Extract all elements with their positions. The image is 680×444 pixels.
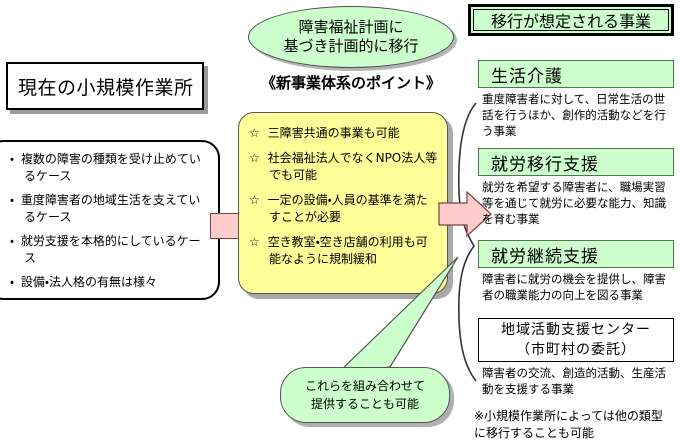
current-small-workshop-title-text: 現在の小規模作業所 — [18, 73, 194, 100]
current-workshop-case-list: ・ 複数の障害の種類を受け止めているケース ・ 重度障害者の地域生活を支えている… — [0, 140, 220, 300]
list-item: ・ 設備・法人格の有無は様々 — [10, 274, 210, 291]
service-label-community-activity-center: 地域活動支援センター （市町村の委託） — [478, 318, 674, 362]
service-label-subtext: （市町村の委託） — [516, 340, 636, 360]
service-description: 重度障害者に対して、日常生活の世話を行うほか、創作的活動などを行う事業 — [478, 88, 674, 139]
planned-transition-line-1: 障害福祉計画に — [298, 18, 403, 37]
service-label-text: 生活介護 — [491, 62, 563, 87]
bullet-dot-icon: ・ — [10, 152, 17, 166]
list-item-label: 三障害共通の事業も可能 — [268, 126, 400, 140]
planned-transition-ellipse: 障害福祉計画に 基づき計画的に移行 — [248, 6, 454, 68]
service-label-employment-transition: 就労移行支援 — [478, 148, 674, 176]
bullet-dot-icon: ・ — [10, 193, 17, 207]
service-description: 障害者の交流、創造的活動、生産活動を支援する事業 — [478, 362, 674, 397]
combine-services-callout: これらを組み合わせて 提供することも可能 — [280, 367, 450, 423]
expected-services-header: 移行が想定される事業 — [468, 4, 674, 36]
list-item: ・ 複数の障害の種類を受け止めているケース — [10, 151, 210, 185]
service-label-text: 就労継続支援 — [491, 242, 599, 267]
footnote-text: ※小規模作業所によっては他の類型に移行することも可能 — [474, 408, 674, 442]
service-label-life-care: 生活介護 — [478, 60, 674, 88]
service-block-employment-continuation: 就労継続支援 障害者に就労の機会を提供し、障害者の職業能力の向上を図る事業 — [478, 240, 674, 303]
combine-callout-tail-icon — [330, 255, 460, 380]
service-block-employment-transition: 就労移行支援 就労を希望する障害者に、職場実習等を通じて就労に必要な能力、知識を… — [478, 148, 674, 227]
list-item: ☆ 社会福祉法人でなくNPO法人等でも可能 — [249, 150, 439, 184]
diagram-canvas: 現在の小規模作業所 ・ 複数の障害の種類を受け止めているケース ・ 重度障害者の… — [0, 0, 680, 444]
list-item-label: 一定の設備・人員の基準を満たすことが必要 — [268, 193, 428, 224]
service-label-employment-continuation: 就労継続支援 — [478, 240, 674, 268]
list-item: ☆ 一定の設備・人員の基準を満たすことが必要 — [249, 192, 439, 226]
list-item-label: 複数の障害の種類を受け止めているケース — [21, 152, 201, 183]
service-label-text: 地域活動支援センター — [501, 320, 651, 340]
star-icon: ☆ — [249, 151, 264, 165]
service-description: 就労を希望する障害者に、職場実習等を通じて就労に必要な能力、知識を育む事業 — [478, 176, 674, 227]
list-item: ・ 就労支援を本格的にしているケース — [10, 233, 210, 267]
combine-callout-line-1: これらを組み合わせて — [305, 377, 425, 395]
list-item-label: 重度障害者の地域生活を支えているケース — [21, 193, 200, 224]
star-icon: ☆ — [249, 126, 264, 140]
combine-callout-line-2: 提供することも可能 — [311, 395, 419, 413]
star-icon: ☆ — [249, 235, 264, 249]
new-system-points-heading: 《新事業体系のポイント》 — [236, 72, 466, 93]
bullet-dot-icon: ・ — [10, 234, 17, 248]
planned-transition-line-2: 基づき計画的に移行 — [283, 37, 418, 56]
list-item: ・ 重度障害者の地域生活を支えているケース — [10, 192, 210, 226]
service-label-text: 就労移行支援 — [491, 150, 599, 175]
list-item-label: 社会福祉法人でなくNPO法人等でも可能 — [268, 151, 438, 182]
service-block-life-care: 生活介護 重度障害者に対して、日常生活の世話を行うほか、創作的活動などを行う事業 — [478, 60, 674, 139]
service-block-community-activity-center: 地域活動支援センター （市町村の委託） 障害者の交流、創造的活動、生産活動を支援… — [478, 318, 674, 397]
expected-services-header-text: 移行が想定される事業 — [491, 8, 651, 32]
star-icon: ☆ — [249, 193, 264, 207]
list-item-label: 就労支援を本格的にしているケース — [21, 234, 201, 265]
list-item: ☆ 三障害共通の事業も可能 — [249, 125, 439, 142]
current-small-workshop-title: 現在の小規模作業所 — [6, 62, 204, 110]
service-description: 障害者に就労の機会を提供し、障害者の職業能力の向上を図る事業 — [478, 268, 674, 303]
list-item-label: 設備・法人格の有無は様々 — [21, 275, 157, 289]
bullet-dot-icon: ・ — [10, 275, 17, 289]
